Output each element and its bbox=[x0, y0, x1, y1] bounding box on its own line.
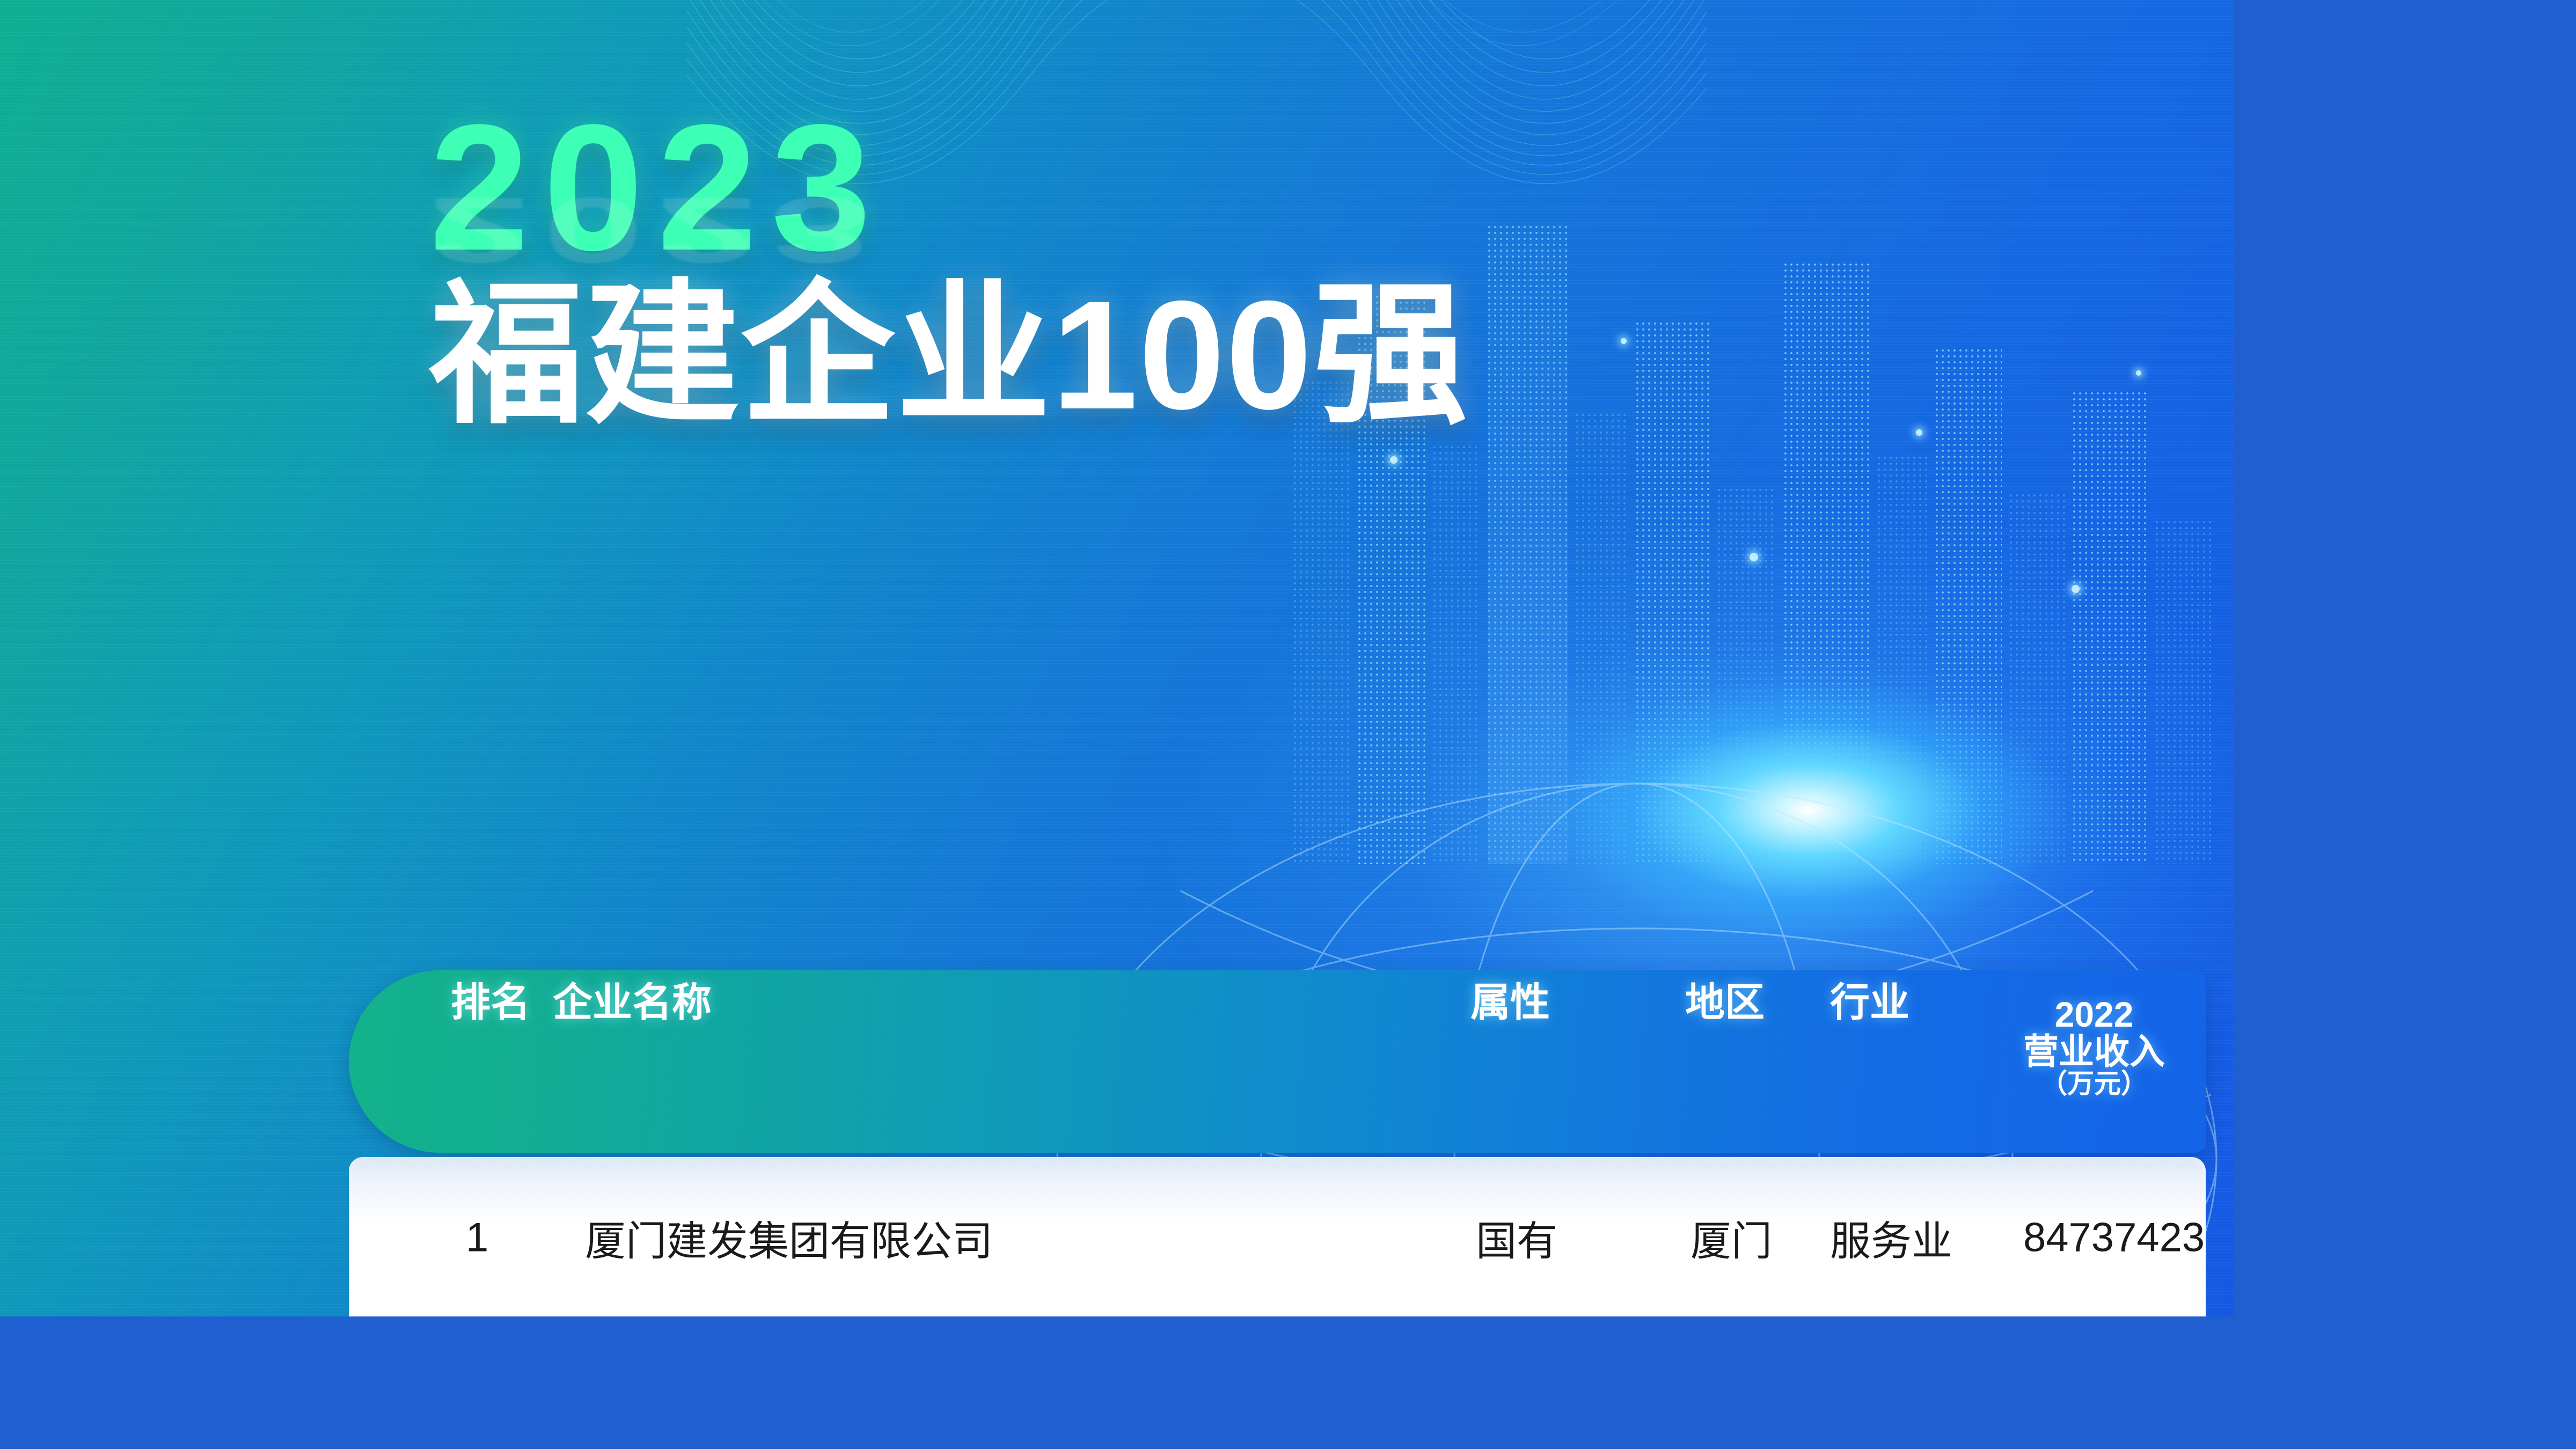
column-header-industry: 行业 bbox=[1830, 970, 1909, 1028]
cell-name: 厦门建发集团有限公司 bbox=[585, 1208, 993, 1267]
wave-pattern-decoration bbox=[687, 0, 1707, 284]
column-header-attr: 属性 bbox=[1470, 970, 1550, 1028]
screenshot-canvas: 2023 2023 福建企业100强 排名 企业名称 属性 地区 行业 2022… bbox=[0, 0, 2576, 1449]
poster-year-reflection: 2023 bbox=[429, 186, 885, 275]
column-header-revenue-year: 2022 bbox=[2023, 996, 2165, 1033]
cell-rank: 1 bbox=[466, 1214, 488, 1261]
column-header-region: 地区 bbox=[1685, 970, 1765, 1028]
cell-attr: 国有 bbox=[1476, 1208, 1557, 1267]
poster-headline: 2023 2023 福建企业100强 bbox=[429, 102, 1469, 435]
cell-industry: 服务业 bbox=[1830, 1208, 1952, 1267]
cell-region: 厦门 bbox=[1690, 1208, 1772, 1267]
table-header-row: 排名 企业名称 属性 地区 行业 2022 营业收入 （万元） bbox=[349, 970, 2206, 1153]
column-header-revenue: 2022 营业收入 （万元） bbox=[2023, 996, 2165, 1097]
horizon-glow-decoration bbox=[1513, 660, 2104, 961]
cell-revenue: 84737423 bbox=[2023, 1214, 2205, 1261]
poster-year: 2023 bbox=[429, 102, 1469, 273]
table-row[interactable]: 1 厦门建发集团有限公司 国有 厦门 服务业 84737423 bbox=[349, 1157, 2206, 1316]
column-header-rank: 排名 bbox=[451, 970, 530, 1028]
column-header-name: 企业名称 bbox=[553, 970, 712, 1028]
table-body: 1 厦门建发集团有限公司 国有 厦门 服务业 84737423 bbox=[349, 1157, 2206, 1316]
poster-image: 2023 2023 福建企业100强 排名 企业名称 属性 地区 行业 2022… bbox=[0, 0, 2234, 1316]
column-header-revenue-label: 营业收入 bbox=[2023, 1031, 2165, 1071]
ranking-table: 排名 企业名称 属性 地区 行业 2022 营业收入 （万元） 1 厦门建发集团… bbox=[349, 970, 2206, 1316]
city-skyline-decoration bbox=[1277, 177, 2234, 864]
page-title: 福建企业100强 bbox=[429, 277, 1469, 435]
column-header-revenue-unit: （万元） bbox=[2023, 1070, 2165, 1097]
